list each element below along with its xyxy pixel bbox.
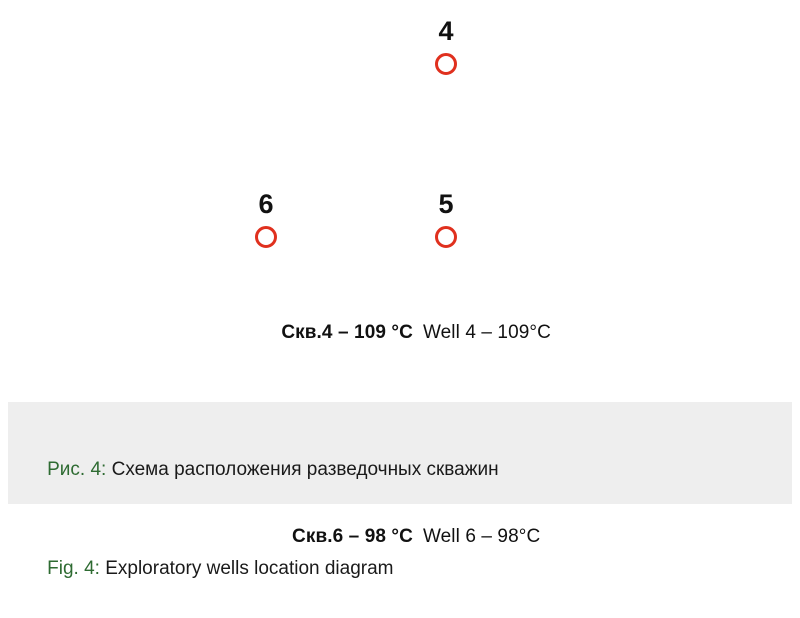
legend-text-ru: Скв.4 – 109 °C — [281, 322, 413, 343]
well-circle-marker — [255, 226, 277, 248]
well-marker-group: 5 — [406, 191, 486, 248]
caption-line-en: Fig. 4: Exploratory wells location diagr… — [26, 519, 792, 618]
caption-text-ru: Схема расположения разведочных скважин — [112, 459, 499, 480]
wells-location-diagram: 4 6 5 Скв.4 – 109 °CWell 4 – 109°C Скв.5… — [0, 0, 800, 400]
well-circle-marker — [435, 53, 457, 75]
well-marker-group: 6 — [226, 191, 306, 248]
caption-tag-ru: Рис. 4: — [47, 459, 106, 480]
caption-tag-en: Fig. 4: — [47, 558, 100, 579]
figure-caption-band: Рис. 4: Схема расположения разведочных с… — [8, 402, 792, 504]
caption-line-ru: Рис. 4: Схема расположения разведочных с… — [26, 420, 792, 519]
well-number-label: 6 — [226, 191, 306, 218]
well-number-label: 5 — [406, 191, 486, 218]
well-circle-marker — [435, 226, 457, 248]
caption-text-en: Exploratory wells location diagram — [105, 558, 393, 579]
well-number-label: 4 — [406, 18, 486, 45]
well-marker-group: 4 — [406, 18, 486, 75]
legend-line: Скв.4 – 109 °CWell 4 – 109°C — [0, 282, 800, 384]
legend-text-en: Well 4 – 109°C — [423, 322, 551, 343]
